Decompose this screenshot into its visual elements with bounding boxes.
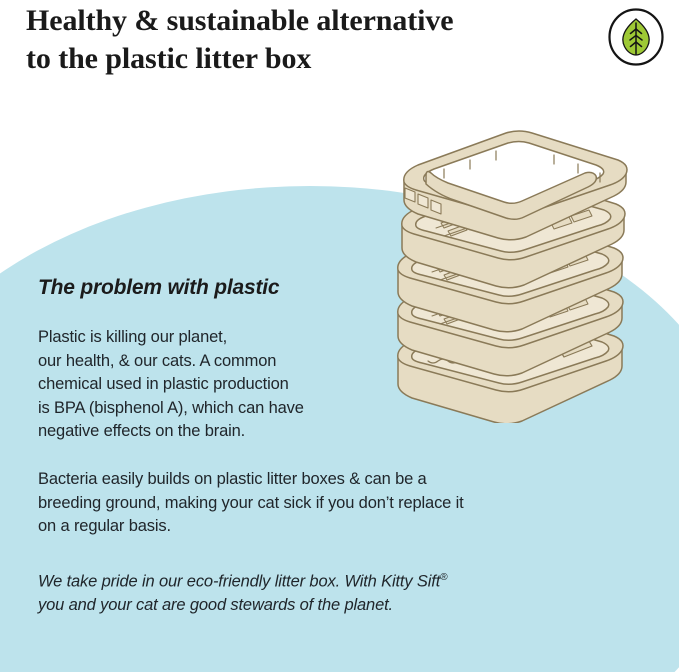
leaf-icon <box>607 8 665 66</box>
paragraph-brand-statement: We take pride in our eco-friendly litter… <box>38 566 598 618</box>
stacked-litter-box-graphic <box>382 108 632 423</box>
paragraph-3-line-1: We take pride in our eco-friendly litter… <box>38 566 598 594</box>
paragraph-2-line-2: breeding ground, making your cat sick if… <box>38 492 598 516</box>
paragraph-bacteria: Bacteria easily builds on plastic litter… <box>38 468 598 539</box>
paragraph-1-line-4: is BPA (bisphenol A), which can have <box>38 397 398 421</box>
litter-box-illustration <box>382 108 632 423</box>
paragraph-1-line-3: chemical used in plastic production <box>38 373 398 397</box>
paragraph-3-line-1-text: We take pride in our eco-friendly litter… <box>38 573 440 591</box>
paragraph-1-line-2: our health, & our cats. A common <box>38 350 398 374</box>
paragraph-1-line-5: negative effects on the brain. <box>38 420 398 444</box>
paragraph-plastic-problem: Plastic is killing our planet, our healt… <box>38 326 398 444</box>
paragraph-2-line-3: on a regular basis. <box>38 515 598 539</box>
headline-line-1: Healthy & sustainable alternative <box>26 2 586 40</box>
infographic-page: Healthy & sustainable alternative to the… <box>0 0 679 672</box>
header: Healthy & sustainable alternative to the… <box>0 0 679 92</box>
paragraph-3-line-2: you and your cat are good stewards of th… <box>38 594 598 618</box>
eco-leaf-badge <box>607 8 665 66</box>
paragraph-2-line-1: Bacteria easily builds on plastic litter… <box>38 468 598 492</box>
headline-line-2: to the plastic litter box <box>26 40 586 78</box>
registered-trademark-symbol: ® <box>440 572 447 583</box>
page-title: Healthy & sustainable alternative to the… <box>26 2 586 77</box>
section-subheading: The problem with plastic <box>38 276 279 300</box>
paragraph-1-line-1: Plastic is killing our planet, <box>38 326 398 350</box>
